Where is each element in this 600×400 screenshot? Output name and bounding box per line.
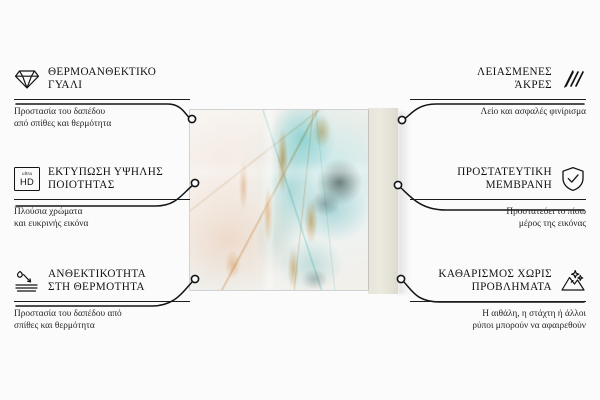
product-image xyxy=(190,110,405,290)
feature-title: ΚΑΘΑΡΙΣΜΟΣ ΧΩΡΙΣ ΠΡΟΒΛΗΜΑΤΑ xyxy=(438,268,552,295)
product-feature-infographic: ΘΕΡΜΟΑΝΘΕΚΤΙΚΟ ΓΥΑΛΙ Προστασία του δαπέδ… xyxy=(0,0,600,400)
feature-divider xyxy=(14,99,190,100)
feature-divider xyxy=(410,301,586,302)
feature-header: ΛΕΙΑΣΜΕΝΕΣ ΆΚΡΕΣ xyxy=(410,64,586,94)
feature-heat-resistant-glass: ΘΕΡΜΟΑΝΘΕΚΤΙΚΟ ΓΥΑΛΙ Προστασία του δαπέδ… xyxy=(14,64,190,130)
feature-description: Προστασία του δαπέδου από σπίθες και θερ… xyxy=(14,308,190,332)
feature-header: ΘΕΡΜΟΑΝΘΕΚΤΙΚΟ ΓΥΑΛΙ xyxy=(14,64,190,94)
feature-easy-cleaning: ΚΑΘΑΡΙΣΜΟΣ ΧΩΡΙΣ ΠΡΟΒΛΗΜΑΤΑ Η αιθάλη, η … xyxy=(410,266,586,332)
feature-divider xyxy=(14,199,190,200)
feature-title: ΠΡΟΣΤΑΤΕΥΤΙΚΗ ΜΕΜΒΡΑΝΗ xyxy=(457,166,552,193)
feature-divider xyxy=(14,301,190,302)
feature-description: Η αιθάλη, η στάχτη ή άλλοι ρύποι μπορούν… xyxy=(410,308,586,332)
product-drop-shadow xyxy=(398,112,410,294)
feature-heat-resistance: ΑΝΘΕΚΤΙΚΟΤΗΤΑ ΣΤΗ ΘΕΡΜΟΤΗΤΑ Προστασία το… xyxy=(14,266,190,332)
feature-title: ΕΚΤΥΠΩΣΗ ΥΨΗΛΗΣ ΠΟΙΟΤΗΤΑΣ xyxy=(48,166,163,193)
artwork-vein-filaments xyxy=(190,110,368,290)
product-side-panel xyxy=(368,108,398,294)
easy-clean-sparkle-icon xyxy=(560,268,586,294)
feature-high-quality-print: ultra HD ΕΚΤΥΠΩΣΗ ΥΨΗΛΗΣ ΠΟΙΟΤΗΤΑΣ Πλούσ… xyxy=(14,164,190,230)
feature-header: ultra HD ΕΚΤΥΠΩΣΗ ΥΨΗΛΗΣ ΠΟΙΟΤΗΤΑΣ xyxy=(14,164,190,194)
feature-divider xyxy=(410,99,586,100)
feature-title: ΘΕΡΜΟΑΝΘΕΚΤΙΚΟ ΓΥΑΛΙ xyxy=(48,66,156,93)
feature-header: ΠΡΟΣΤΑΤΕΥΤΙΚΗ ΜΕΜΒΡΑΝΗ xyxy=(410,164,586,194)
feature-divider xyxy=(410,199,586,200)
feature-header: ΑΝΘΕΚΤΙΚΟΤΗΤΑ ΣΤΗ ΘΕΡΜΟΤΗΤΑ xyxy=(14,266,190,296)
feature-title: ΛΕΙΑΣΜΕΝΕΣ ΆΚΡΕΣ xyxy=(477,66,552,93)
smoothed-edges-icon xyxy=(560,66,586,92)
diamond-icon xyxy=(14,66,40,92)
ultra-hd-icon-hd-label: HD xyxy=(20,177,34,186)
product-front-face xyxy=(190,110,368,290)
feature-description: Προστατεύει το πίσω μέρος της εικόνας xyxy=(410,206,586,230)
feature-title: ΑΝΘΕΚΤΙΚΟΤΗΤΑ ΣΤΗ ΘΕΡΜΟΤΗΤΑ xyxy=(48,268,146,295)
feature-description: Πλούσια χρώματα και ευκρινής εικόνα xyxy=(14,206,190,230)
heat-resistance-icon xyxy=(14,268,40,294)
feature-smoothed-edges: ΛΕΙΑΣΜΕΝΕΣ ΆΚΡΕΣ Λείο και ασφαλές φινίρι… xyxy=(410,64,586,118)
feature-description: Προστασία του δαπέδου από σπίθες και θερ… xyxy=(14,106,190,130)
feature-header: ΚΑΘΑΡΙΣΜΟΣ ΧΩΡΙΣ ΠΡΟΒΛΗΜΑΤΑ xyxy=(410,266,586,296)
feature-description: Λείο και ασφαλές φινίρισμα xyxy=(410,106,586,118)
ultra-hd-icon: ultra HD xyxy=(14,166,40,192)
feature-protective-membrane: ΠΡΟΣΤΑΤΕΥΤΙΚΗ ΜΕΜΒΡΑΝΗ Προστατεύει το πί… xyxy=(410,164,586,230)
shield-check-icon xyxy=(560,166,586,192)
